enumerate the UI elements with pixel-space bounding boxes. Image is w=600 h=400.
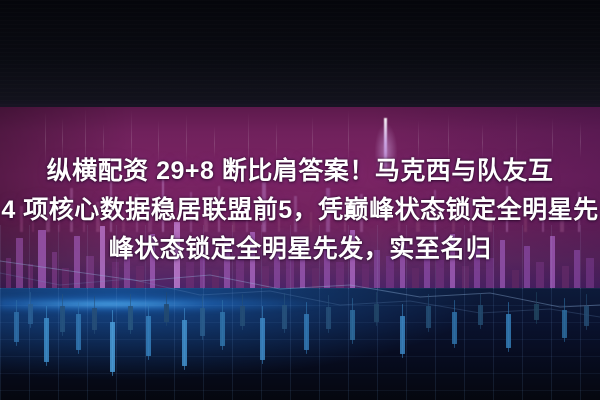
candlestick-group [0, 0, 600, 400]
candlestick-wick [306, 302, 307, 354]
candlestick-wick [480, 293, 481, 329]
candlestick-wick [62, 294, 63, 336]
candlestick-wick [284, 293, 285, 333]
candlestick-wick [148, 304, 149, 360]
candlestick-wick [402, 304, 403, 358]
candlestick-wick [262, 306, 263, 364]
candlestick-wick [202, 296, 203, 340]
banner-canvas: 纵横配资 29+8 断比肩答案！马克西与队友互 4 项核心数据稳居联盟前5，凭巅… [0, 0, 600, 400]
candlestick-wick [352, 298, 353, 344]
candlestick-wick [586, 294, 587, 330]
candlestick-wick [428, 294, 429, 332]
candlestick-wick [112, 310, 113, 376]
candlestick-wick [508, 302, 509, 352]
candlestick-wick [78, 302, 79, 354]
candlestick-wick [30, 292, 31, 328]
candlestick-wick [376, 292, 377, 326]
candlestick-wick [328, 295, 329, 333]
candlestick-wick [184, 308, 185, 370]
candlestick-wick [222, 300, 223, 350]
candlestick-wick [166, 292, 167, 326]
candlestick-wick [46, 306, 47, 366]
candlestick-wick [454, 300, 455, 348]
candlestick-wick [130, 294, 131, 334]
candlestick-wick [242, 294, 243, 330]
candlestick-wick [16, 300, 17, 346]
candlestick-wick [536, 292, 537, 324]
candlestick-wick [564, 298, 565, 342]
candlestick-wick [94, 296, 95, 334]
